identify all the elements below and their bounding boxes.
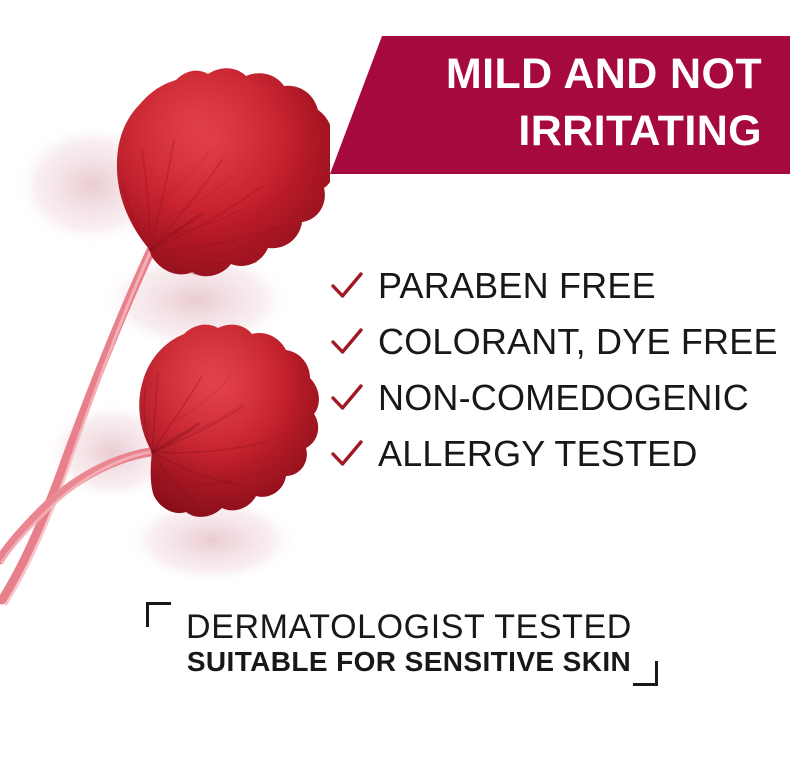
footer-line-1: DERMATOLOGIST TESTED bbox=[159, 608, 659, 647]
headline-banner: MILD AND NOT IRRITATING bbox=[320, 36, 790, 174]
claim-label: ALLERGY TESTED bbox=[378, 434, 698, 474]
claim-label: PARABEN FREE bbox=[378, 266, 656, 306]
claims-list: PARABEN FREE COLORANT, DYE FREE NON-COME… bbox=[330, 258, 790, 482]
check-icon bbox=[330, 381, 364, 415]
claim-label: NON-COMEDOGENIC bbox=[378, 378, 749, 418]
check-icon bbox=[330, 437, 364, 471]
lower-leaf bbox=[139, 325, 319, 517]
upper-leaf bbox=[117, 68, 330, 276]
product-claims-graphic: MILD AND NOT IRRITATING PARABEN FREE COL… bbox=[0, 0, 790, 779]
check-icon bbox=[330, 269, 364, 303]
list-item: ALLERGY TESTED bbox=[330, 426, 790, 482]
list-item: COLORANT, DYE FREE bbox=[330, 314, 790, 370]
footer-line-2: SUITABLE FOR SENSITIVE SKIN bbox=[159, 646, 659, 678]
geranium-leaves-image bbox=[0, 0, 330, 620]
check-icon bbox=[330, 325, 364, 359]
headline-line-1: MILD AND NOT bbox=[342, 46, 762, 103]
headline-line-2: IRRITATING bbox=[342, 103, 762, 160]
dermatologist-tested-block: DERMATOLOGIST TESTED SUITABLE FOR SENSIT… bbox=[146, 602, 658, 686]
list-item: NON-COMEDOGENIC bbox=[330, 370, 790, 426]
claim-label: COLORANT, DYE FREE bbox=[378, 322, 778, 362]
list-item: PARABEN FREE bbox=[330, 258, 790, 314]
